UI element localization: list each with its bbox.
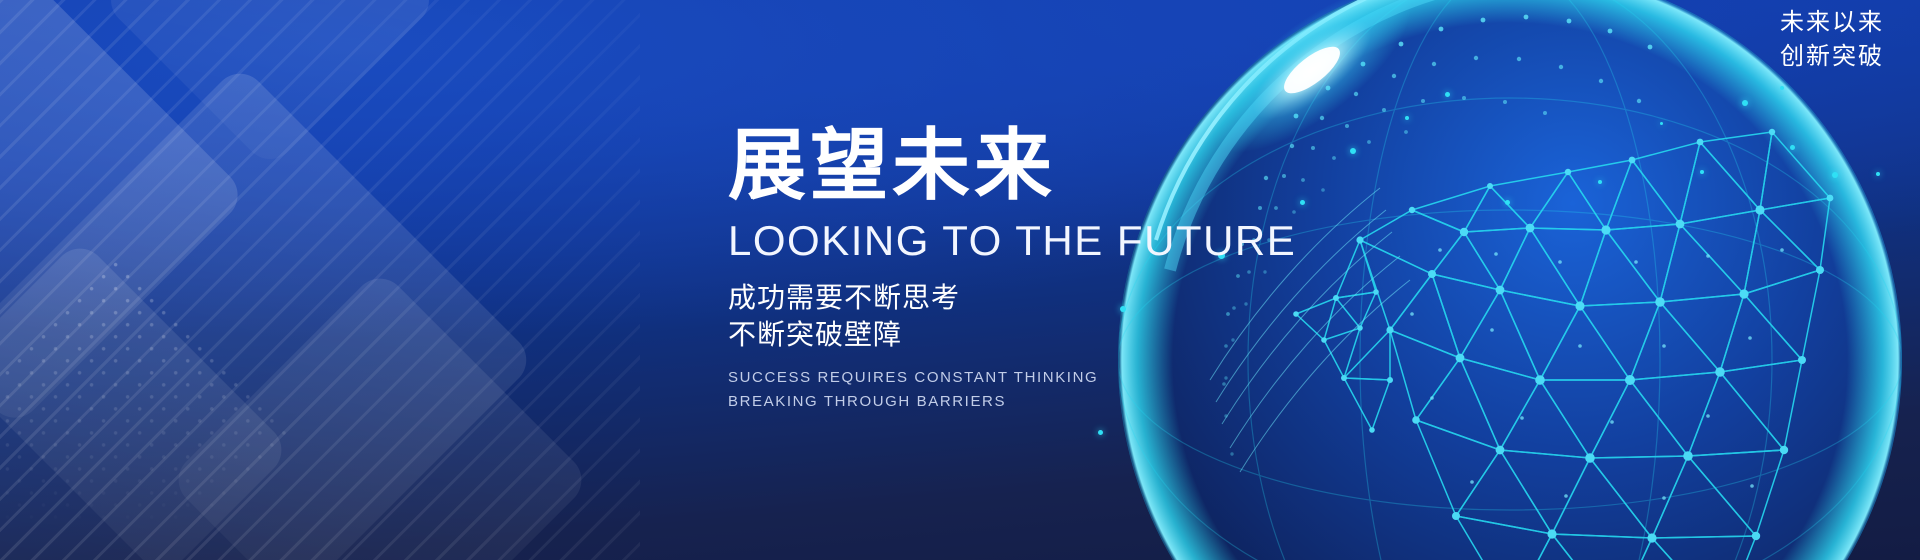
particle-dot bbox=[1790, 145, 1795, 150]
headline-block: 展望未来 LOOKING TO THE FUTURE 成功需要不断思考 不断突破… bbox=[728, 126, 1488, 415]
particle-dot bbox=[1505, 200, 1510, 205]
particle-dot bbox=[1780, 86, 1784, 90]
particle-dot bbox=[1660, 122, 1663, 125]
page-title-en: LOOKING TO THE FUTURE bbox=[728, 218, 1488, 264]
particle-dot bbox=[1445, 92, 1450, 97]
subtitle-en: SUCCESS REQUIRES CONSTANT THINKING BREAK… bbox=[728, 366, 1488, 415]
particle-dot bbox=[1098, 430, 1103, 435]
particle-dot bbox=[1742, 100, 1748, 106]
subtitle-en-line-1: SUCCESS REQUIRES CONSTANT THINKING bbox=[728, 366, 1488, 390]
particle-dot bbox=[1832, 172, 1838, 178]
left-geometric-decoration bbox=[0, 0, 640, 560]
hero-banner: 未来以来 创新突破 展望未来 LOOKING TO THE FUTURE 成功需… bbox=[0, 0, 1920, 560]
corner-slogan-line-1: 未来以来 bbox=[1780, 6, 1884, 40]
page-title-cn: 展望未来 bbox=[728, 126, 1488, 204]
particle-dot bbox=[1405, 116, 1409, 120]
corner-slogan-line-2: 创新突破 bbox=[1780, 40, 1884, 74]
corner-slogan: 未来以来 创新突破 bbox=[1780, 6, 1884, 74]
subtitle-cn: 成功需要不断思考 不断突破壁障 bbox=[728, 280, 1488, 354]
particle-dot bbox=[1700, 170, 1704, 174]
subtitle-en-line-2: BREAKING THROUGH BARRIERS bbox=[728, 390, 1488, 414]
subtitle-cn-line-2: 不断突破壁障 bbox=[728, 317, 1488, 354]
subtitle-cn-line-1: 成功需要不断思考 bbox=[728, 280, 1488, 317]
particle-dot bbox=[1876, 172, 1880, 176]
particle-dot bbox=[1598, 180, 1602, 184]
